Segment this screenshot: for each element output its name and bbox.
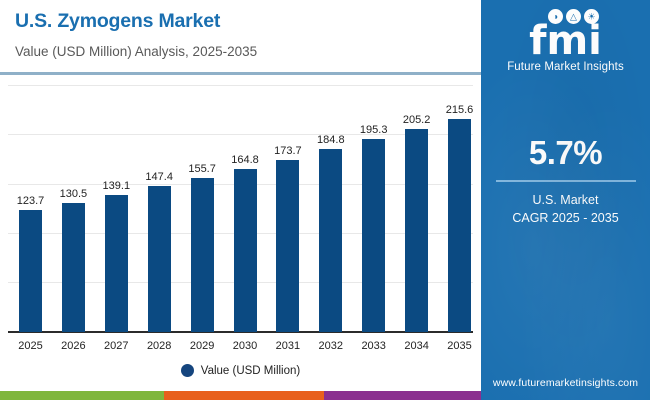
bar-value-label: 164.8 [231, 154, 259, 166]
chart-legend: Value (USD Million) [0, 364, 481, 377]
bar-rect [105, 195, 128, 332]
bar-2032: 184.8 [319, 149, 342, 332]
bar-2025: 123.7 [19, 210, 42, 332]
world-badge-icon: ☀ [584, 9, 599, 24]
chart-panel: U.S. Zymogens Market Value (USD Million)… [0, 0, 481, 400]
stripe-segment-purple [324, 391, 481, 400]
stripe-segment-orange [164, 391, 324, 400]
bar-2026: 130.5 [62, 203, 85, 332]
bar-rect [276, 160, 299, 332]
x-axis-label-2034: 2034 [397, 340, 437, 352]
cagr-callout: 5.7% U.S. Market CAGR 2025 - 2035 [481, 136, 650, 227]
logo-tagline: Future Market Insights [481, 61, 650, 73]
cagr-market-label: U.S. Market [481, 191, 650, 209]
logo-badge-icons: ◑ △ ☀ [497, 6, 650, 24]
bar-value-label: 139.1 [103, 180, 131, 192]
x-axis-label-2028: 2028 [139, 340, 179, 352]
cagr-divider [496, 180, 636, 182]
bar-rect [448, 119, 471, 332]
bar-value-label: 205.2 [403, 114, 431, 126]
bar-value-label: 215.6 [446, 104, 474, 116]
fmi-logo: ◑ △ ☀ fmi Future Market Insights [481, 6, 650, 73]
bars-layer: 123.72025130.52026139.12027147.42028155.… [0, 0, 481, 400]
cagr-period-label: CAGR 2025 - 2035 [481, 209, 650, 227]
chart-badge-icon: △ [566, 9, 581, 24]
bar-2033: 195.3 [362, 139, 385, 332]
x-axis-label-2032: 2032 [311, 340, 351, 352]
bar-rect [19, 210, 42, 332]
bar-rect [148, 186, 171, 332]
bar-value-label: 147.4 [145, 171, 173, 183]
x-axis-label-2026: 2026 [53, 340, 93, 352]
legend-label: Value (USD Million) [201, 365, 300, 377]
bar-rect [234, 169, 257, 332]
brand-sidebar: ◑ △ ☀ fmi Future Market Insights 5.7% U.… [481, 0, 650, 400]
stripe-segment-green [0, 391, 164, 400]
x-axis-label-2030: 2030 [225, 340, 265, 352]
market-chart-infographic: U.S. Zymogens Market Value (USD Million)… [0, 0, 650, 400]
bar-2030: 164.8 [234, 169, 257, 332]
bar-rect [405, 129, 428, 332]
x-axis-label-2033: 2033 [354, 340, 394, 352]
bar-rect [362, 139, 385, 332]
bar-2031: 173.7 [276, 160, 299, 332]
bar-2028: 147.4 [148, 186, 171, 332]
bar-value-label: 123.7 [17, 195, 45, 207]
footer-color-stripe [0, 391, 481, 400]
bar-2034: 205.2 [405, 129, 428, 332]
x-axis-label-2035: 2035 [440, 340, 480, 352]
bar-value-label: 195.3 [360, 124, 388, 136]
bar-rect [319, 149, 342, 332]
bar-2035: 215.6 [448, 119, 471, 332]
bar-value-label: 173.7 [274, 145, 302, 157]
x-axis-label-2029: 2029 [182, 340, 222, 352]
bar-value-label: 184.8 [317, 134, 345, 146]
bar-rect [191, 178, 214, 332]
bar-2027: 139.1 [105, 195, 128, 332]
bar-2029: 155.7 [191, 178, 214, 332]
x-axis-label-2027: 2027 [96, 340, 136, 352]
x-axis-label-2025: 2025 [11, 340, 51, 352]
website-url: www.futuremarketinsights.com [481, 377, 650, 389]
bar-rect [62, 203, 85, 332]
legend-marker-icon [181, 364, 194, 377]
bar-value-label: 130.5 [60, 188, 88, 200]
cagr-value: 5.7% [481, 136, 650, 171]
globe-badge-icon: ◑ [548, 9, 563, 24]
x-axis-label-2031: 2031 [268, 340, 308, 352]
bar-value-label: 155.7 [188, 163, 216, 175]
logo-wordmark: fmi [481, 23, 650, 60]
